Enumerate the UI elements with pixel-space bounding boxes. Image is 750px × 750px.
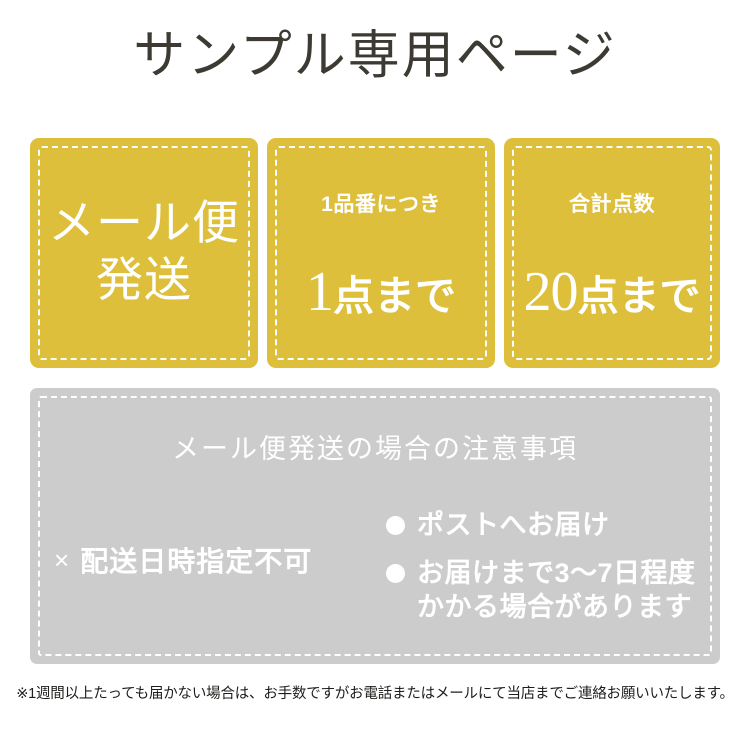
list-item-line1: ポストへお届け bbox=[417, 510, 610, 540]
list-item-line2: かかる場合があります bbox=[417, 590, 716, 624]
list-item: お届けまで3〜7日程度 かかる場合があります bbox=[386, 556, 716, 624]
card-per-item-limit-label: 1品番につき bbox=[321, 192, 441, 218]
dashed-border-decoration bbox=[512, 146, 712, 360]
card-per-item-limit-number: 1 bbox=[306, 261, 333, 323]
card-per-item-limit-unit: 点まで bbox=[333, 273, 456, 319]
card-total-limit-label: 合計点数 bbox=[569, 192, 655, 218]
page-title: サンプル専用ページ bbox=[0, 26, 750, 88]
list-item: ポストへお届け bbox=[386, 508, 716, 542]
notice-restriction: ×配送日時指定不可 bbox=[54, 542, 384, 580]
card-total-limit: 合計点数 20点まで bbox=[504, 138, 720, 368]
bullet-dot-icon bbox=[386, 564, 405, 583]
bullet-dot-icon bbox=[386, 516, 405, 535]
card-total-limit-quantity: 20点まで bbox=[524, 264, 701, 320]
card-shipping-method: メール便 発送 bbox=[30, 138, 258, 368]
card-total-limit-unit: 点まで bbox=[578, 273, 701, 319]
footer-note: ※1週間以上たっても届かない場合は、お手数ですがお電話またはメールにて当店までご… bbox=[0, 684, 750, 704]
notice-restriction-label: 配送日時指定不可 bbox=[80, 546, 312, 577]
notice-heading: メール便発送の場合の注意事項 bbox=[0, 432, 750, 466]
card-per-item-limit: 1品番につき 1点まで bbox=[267, 138, 495, 368]
info-cards-row: メール便 発送 1品番につき 1点まで 合計点数 20点まで bbox=[30, 138, 720, 368]
list-item-line1: お届けまで3〜7日程度 bbox=[417, 558, 696, 588]
card-per-item-limit-quantity: 1点まで bbox=[306, 264, 456, 320]
cross-icon: × bbox=[54, 542, 70, 578]
card-total-limit-number: 20 bbox=[524, 261, 578, 323]
notice-bullet-list: ポストへお届け お届けまで3〜7日程度 かかる場合があります bbox=[386, 508, 716, 638]
list-item-text: ポストへお届け bbox=[417, 508, 716, 542]
list-item-text: お届けまで3〜7日程度 かかる場合があります bbox=[417, 556, 716, 624]
card-shipping-method-line1: メール便 bbox=[48, 196, 240, 253]
dashed-border-decoration bbox=[275, 146, 487, 360]
card-shipping-method-line2: 発送 bbox=[96, 253, 192, 310]
